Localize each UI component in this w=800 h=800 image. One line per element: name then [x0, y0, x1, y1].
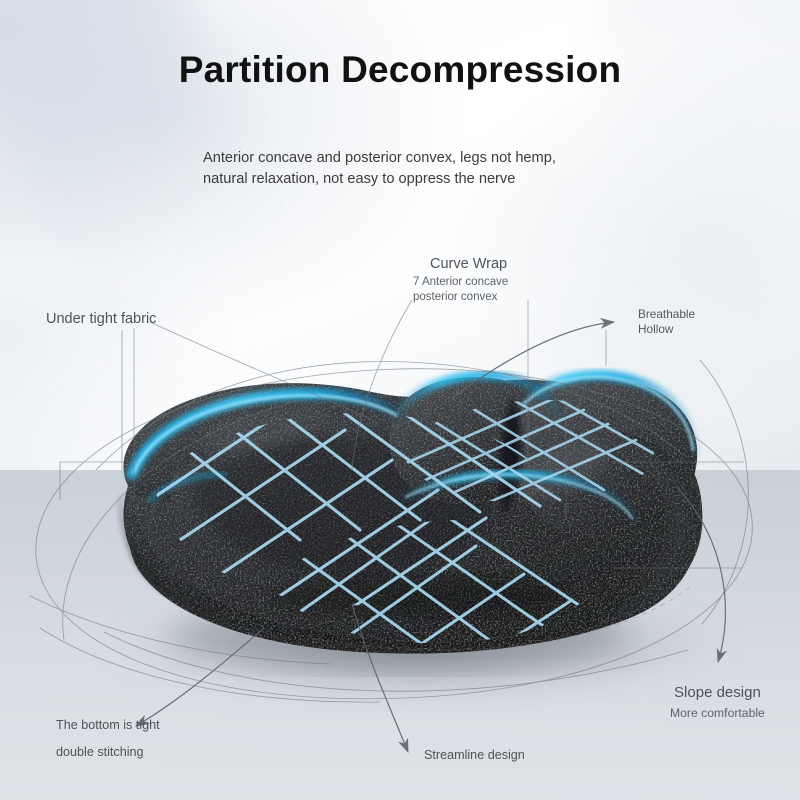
leader-slope-design	[676, 486, 725, 662]
callout-breathable-hollow: Breathable Hollow	[638, 307, 695, 337]
leader-bottom-tight	[136, 628, 264, 726]
page-subtitle: Anterior concave and posterior convex, l…	[203, 148, 673, 189]
callout-subtext: 7 Anterior concave posterior convex	[413, 275, 533, 305]
leader-breathable-hollow	[452, 322, 614, 398]
callout-heading: Slope design	[670, 684, 765, 703]
callout-heading: The bottom is tight	[56, 718, 160, 734]
infographic-canvas: Partition Decompression Anterior concave…	[0, 0, 800, 800]
callout-slope-design: Slope design More comfortable	[670, 684, 765, 722]
leader-streamline-design	[352, 604, 408, 752]
page-title: Partition Decompression	[0, 50, 800, 91]
callout-under-tight-fabric: Under tight fabric	[46, 310, 156, 328]
callout-subtext: More comfortable	[670, 706, 765, 722]
callout-heading: Under tight fabric	[46, 310, 156, 328]
callout-heading: Curve Wrap	[430, 255, 533, 273]
callout-subtext: double stitching	[56, 744, 160, 760]
callout-leaders	[0, 0, 800, 800]
callout-bottom-tight: The bottom is tight double stitching	[56, 718, 160, 760]
callout-curve-wrap: Curve Wrap 7 Anterior concave posterior …	[430, 255, 533, 305]
callout-heading: Streamline design	[424, 748, 525, 764]
callout-subtext: Breathable Hollow	[638, 307, 695, 337]
callout-streamline-design: Streamline design	[424, 748, 525, 764]
